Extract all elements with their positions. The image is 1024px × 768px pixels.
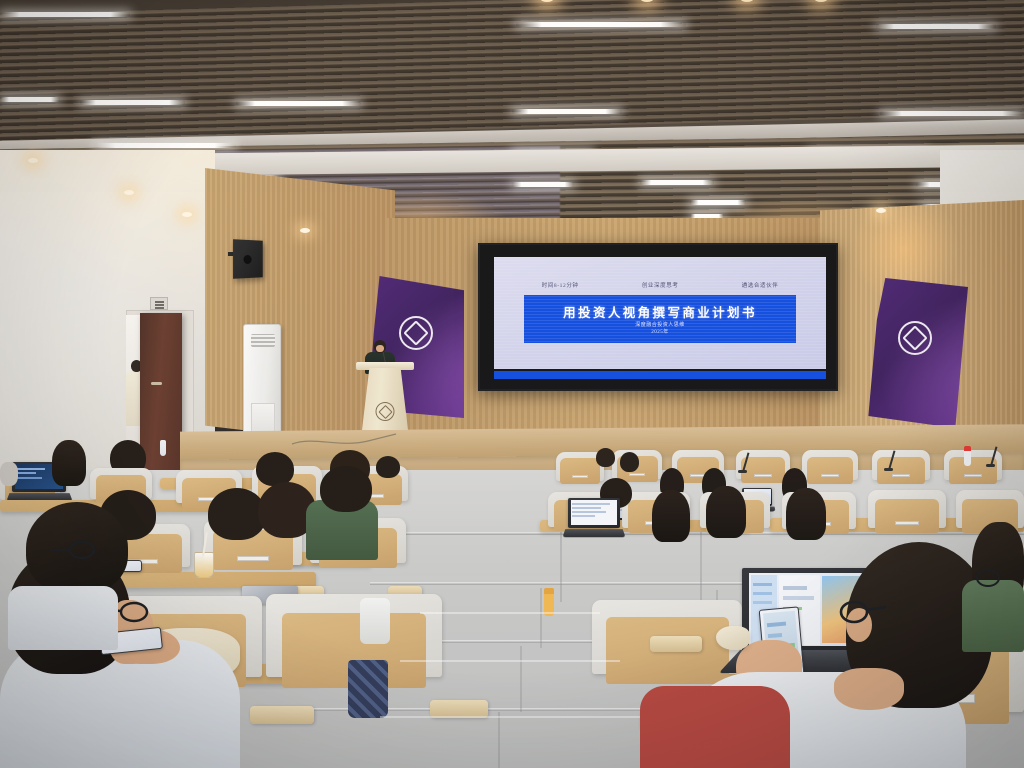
slide-tag-2: 创业深度思考 xyxy=(642,281,679,289)
seat-wood-panel xyxy=(741,457,785,483)
ceiling-led-strip xyxy=(0,12,130,17)
floor-air-conditioner[interactable] xyxy=(243,324,281,444)
ceiling-slats-upper xyxy=(0,0,1024,142)
wall-downlight xyxy=(300,228,310,233)
ceiling-downlight xyxy=(182,212,192,217)
seat-number-label xyxy=(964,474,983,477)
slide-tag-3: 遴选合适伙伴 xyxy=(742,281,779,289)
presenter-face xyxy=(376,345,384,352)
ceiling-led-strip xyxy=(512,109,622,114)
stage-cable xyxy=(290,432,400,450)
tissue-on-desk xyxy=(716,626,750,650)
ceiling-led-strip xyxy=(80,100,185,105)
audience-hand xyxy=(834,668,904,710)
floor-tile-line xyxy=(380,716,640,718)
wall-speaker xyxy=(233,239,263,279)
audience-head-long-hair xyxy=(652,490,690,542)
university-emblem-icon xyxy=(376,402,395,421)
seat-number-label xyxy=(754,474,771,477)
ac-vent xyxy=(251,334,275,347)
university-emblem-icon xyxy=(399,316,433,350)
eyeglasses-icon xyxy=(966,566,1006,592)
seat-number-label xyxy=(821,474,839,477)
tote-bag xyxy=(348,660,388,718)
seat-armrest xyxy=(250,706,314,724)
university-emblem-icon xyxy=(898,321,932,355)
wall-downlight xyxy=(876,208,886,213)
audience-head xyxy=(596,448,615,467)
seat-number-label xyxy=(572,475,587,478)
audience-head xyxy=(256,452,294,486)
slide-title: 用投资人视角撰写商业计划书 xyxy=(524,302,796,321)
ceiling-led-strip xyxy=(236,101,361,106)
laptop[interactable] xyxy=(568,498,620,538)
presentation-slide: 时间8-12分钟 创业深度思考 遴选合适伙伴 用投资人视角撰写商业计划书 深度融… xyxy=(494,257,826,369)
ceiling-led-strip xyxy=(512,182,574,187)
audience-head xyxy=(0,462,18,486)
laptop-lid xyxy=(568,498,620,528)
slide-subtitle-line1: 深度融合投资人思维 xyxy=(635,323,685,328)
ceiling-led-strip xyxy=(94,143,236,148)
lecture-hall-scene: 时间8-12分钟 创业深度思考 遴选合适伙伴 用投资人视角撰写商业计划书 深度融… xyxy=(0,0,1024,768)
seat-wood-panel xyxy=(949,457,997,484)
seat-number-label xyxy=(629,473,645,476)
slide-subtitle: 深度融合投资人思维 2025年 xyxy=(524,322,796,336)
ceiling-led-strip xyxy=(876,24,996,29)
water-bottle xyxy=(160,440,166,456)
floor-tile-line xyxy=(520,646,522,712)
podium xyxy=(362,368,408,430)
ceiling-led-strip xyxy=(0,97,60,102)
eyeglasses-icon xyxy=(838,596,894,628)
seat-number-label xyxy=(237,556,268,561)
bubble-tea-cup xyxy=(194,552,214,578)
floor-tile-line xyxy=(420,612,600,614)
floor-tile-line xyxy=(498,712,500,768)
audience-head xyxy=(620,452,639,472)
slide-tag-1: 时间8-12分钟 xyxy=(542,281,579,289)
laptop-keyboard[interactable] xyxy=(562,529,625,537)
audience-head xyxy=(320,466,372,512)
seat-armrest xyxy=(650,636,702,652)
ceiling-led-strip xyxy=(516,22,686,27)
seat-number-label xyxy=(895,521,920,525)
eyeglasses-icon xyxy=(46,538,102,564)
seat-wood-panel xyxy=(807,457,853,484)
laptop-screen xyxy=(571,500,618,525)
slide-tag-row: 时间8-12分钟 创业深度思考 遴选合适伙伴 xyxy=(494,281,826,289)
shoe xyxy=(360,598,390,644)
audience-head-long-hair xyxy=(706,486,746,538)
seat-wood-panel xyxy=(875,499,939,534)
ceiling-downlight xyxy=(28,158,38,163)
audience-leg xyxy=(640,686,790,768)
audience-head-long-hair xyxy=(52,440,86,486)
projection-screen: 时间8-12分钟 创业深度思考 遴选合适伙伴 用投资人视角撰写商业计划书 深度融… xyxy=(478,243,838,391)
audience-head xyxy=(376,456,400,478)
ceiling-downlight xyxy=(124,190,134,195)
slide-title-band: 用投资人视角撰写商业计划书 深度融合投资人思维 2025年 xyxy=(524,295,796,343)
slide-footer-bar xyxy=(494,371,826,379)
audience-torso xyxy=(8,586,118,650)
exit-sign xyxy=(150,297,168,310)
seat-number-label xyxy=(892,474,911,477)
audience-head-long-hair xyxy=(786,488,826,540)
door-handle[interactable] xyxy=(151,382,162,385)
water-bottle xyxy=(964,446,971,466)
seat-wood-panel xyxy=(560,458,599,484)
floor-tile-line xyxy=(540,588,542,648)
ceiling-led-strip xyxy=(640,180,714,185)
ceiling-led-strip xyxy=(880,111,1024,116)
floor-tile-line xyxy=(400,660,620,662)
slide-subtitle-line2: 2025年 xyxy=(651,330,669,335)
